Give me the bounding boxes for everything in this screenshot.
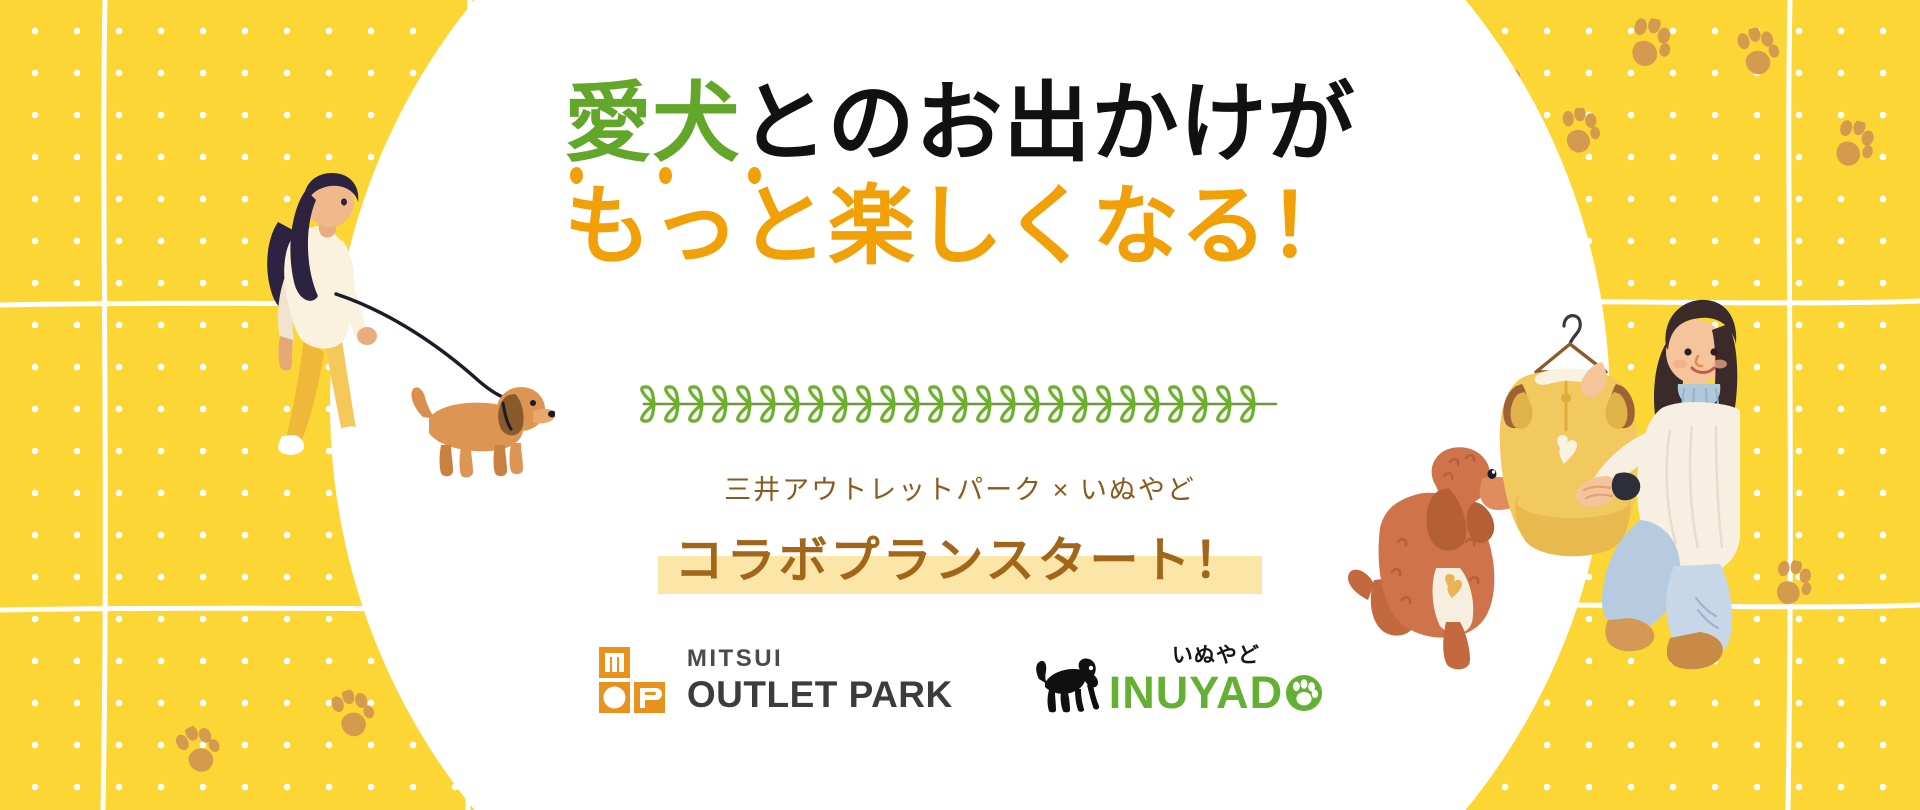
promo-banner: 愛犬とのお出かけが もっと楽しくなる！ 三井アウトレットパーク × いぬやど コ… <box>0 0 1920 810</box>
inuyado-roman-text: INUYAD <box>1109 670 1283 715</box>
inuyado-kana-text: いぬやど <box>1109 645 1323 666</box>
mitsui-outlet-park-logo: MITSUI OUTLET PARK <box>597 645 953 715</box>
collab-partners: 三井アウトレットパーク × いぬやど <box>0 468 1920 507</box>
dog-silhouette-icon <box>1033 655 1101 713</box>
logo-row: MITSUI OUTLET PARK <box>0 645 1920 715</box>
collab-plan-text: コラボプランスタート！ <box>674 521 1245 592</box>
mop-wordmark: MITSUI OUTLET PARK <box>687 647 953 713</box>
mop-outlet-park-text: OUTLET PARK <box>687 676 953 713</box>
inuyado-logo: いぬやど INUYAD <box>1033 645 1323 715</box>
mop-square-mark-icon <box>597 645 667 715</box>
dachshund-illustration <box>405 365 555 480</box>
mop-mitsui-text: MITSUI <box>687 647 953 671</box>
paw-print-icon <box>1556 107 1601 158</box>
inuyado-roman-text-row: INUYAD <box>1109 670 1323 715</box>
collab-text-block: 三井アウトレットパーク × いぬやど コラボプランスタート！ <box>0 468 1920 592</box>
collab-plan-wrapper: コラボプランスタート！ <box>674 521 1245 592</box>
paw-print-icon <box>1285 674 1323 712</box>
leaf-vine-divider <box>640 384 1280 424</box>
inuyado-wordmark: いぬやど INUYAD <box>1109 645 1323 715</box>
